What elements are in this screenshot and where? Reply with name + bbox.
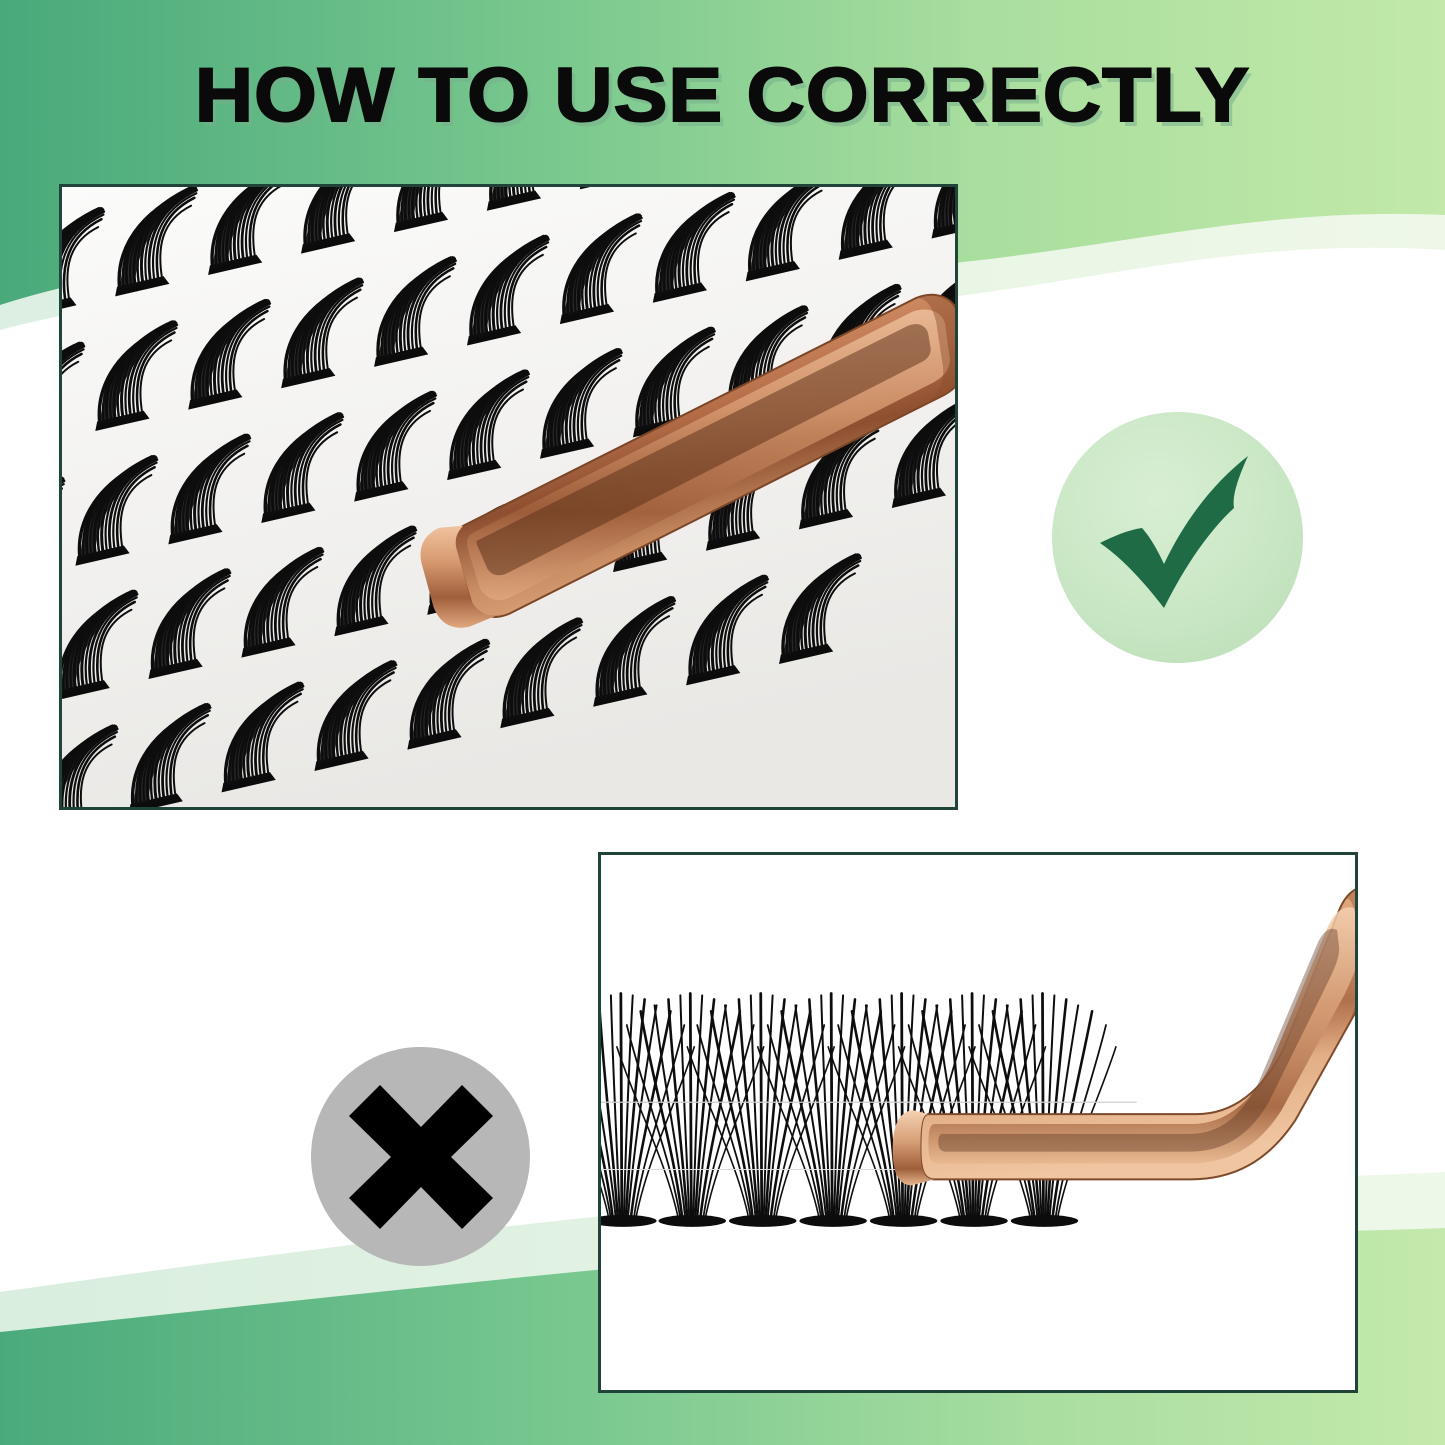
page-title: HOW TO USE CORRECTLY (0, 52, 1445, 139)
photo-correct-usage (59, 184, 958, 810)
status-badge-correct (1052, 412, 1303, 663)
infographic-page: HOW TO USE CORRECTLY (0, 0, 1445, 1445)
cross-icon (349, 1085, 493, 1229)
status-badge-incorrect (311, 1047, 530, 1266)
photo-incorrect-usage (598, 852, 1358, 1393)
check-icon (1100, 456, 1248, 608)
